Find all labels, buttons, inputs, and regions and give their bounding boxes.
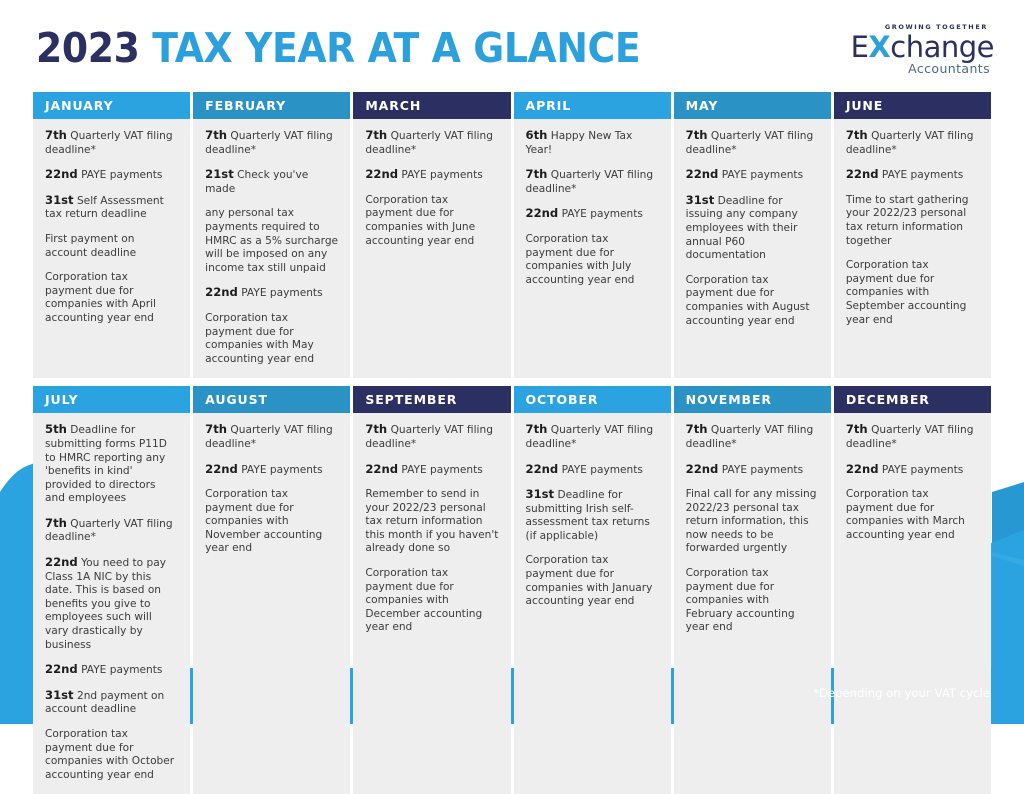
entry-text: PAYE payments [722,169,803,181]
calendar-entry: 22nd PAYE payments [205,286,338,301]
entry-text: PAYE payments [81,169,162,181]
month-header-may: MAY [674,92,831,119]
month-cell-march: MARCH7th Quarterly VAT filing deadline*2… [353,92,510,378]
entry-text: PAYE payments [241,287,322,299]
entry-text: Time to start gathering your 2022/23 per… [846,194,969,247]
logo-name-pre: E [851,30,869,64]
calendar-entry: Corporation tax payment due for companie… [526,554,659,608]
calendar-row: JANUARY7th Quarterly VAT filing deadline… [33,92,991,378]
month-cell-july: JULY5th Deadline for submitting forms P1… [33,386,190,794]
month-entries: 5th Deadline for submitting forms P11D t… [33,413,190,794]
calendar-entry: 31st Self Assessment tax return deadline [45,194,178,222]
calendar-entry: Corporation tax payment due for companie… [365,194,498,248]
entry-day: 22nd [205,462,238,476]
calendar-entry: 31st 2nd payment on account deadline [45,689,178,717]
calendar-entry: 7th Quarterly VAT filing deadline* [846,129,979,157]
calendar-entry: 7th Quarterly VAT filing deadline* [365,423,498,451]
calendar-entry: 22nd PAYE payments [846,463,979,478]
calendar-entry: 7th Quarterly VAT filing deadline* [205,423,338,451]
calendar-entry: Time to start gathering your 2022/23 per… [846,194,979,248]
entry-day: 22nd [205,285,238,299]
calendar-entry: Corporation tax payment due for companie… [846,488,979,542]
page-title: 2023 TAX YEAR AT A GLANCE [36,24,640,72]
month-header-january: JANUARY [33,92,190,119]
entry-text: PAYE payments [81,664,162,676]
entry-text: Corporation tax payment due for companie… [526,233,635,286]
entry-text: Corporation tax payment due for companie… [45,271,156,324]
entry-text: Corporation tax payment due for companie… [686,567,795,633]
entry-text: PAYE payments [722,464,803,476]
calendar-entry: 22nd PAYE payments [686,463,819,478]
entry-day: 22nd [45,555,78,569]
calendar-entry: any personal tax payments required to HM… [205,207,338,275]
calendar-entry: 7th Quarterly VAT filing deadline* [45,129,178,157]
entry-text: You need to pay Class 1A NIC by this dat… [45,557,166,651]
calendar-entry: 21st Check you've made [205,168,338,196]
calendar-entry: 7th Quarterly VAT filing deadline* [846,423,979,451]
entry-day: 22nd [686,167,719,181]
calendar-entry: Corporation tax payment due for companie… [526,233,659,287]
entry-text: Corporation tax payment due for companie… [846,488,965,541]
month-header-april: APRIL [514,92,671,119]
entry-text: any personal tax payments required to HM… [205,207,338,273]
calendar-entry: 31st Deadline for issuing any company em… [686,194,819,263]
month-header-december: DECEMBER [834,386,991,413]
entry-text: PAYE payments [882,169,963,181]
logo-x-mark: X [868,30,890,64]
logo-subtitle: Accountants [842,62,990,76]
entry-day: 22nd [526,462,559,476]
entry-day: 31st [45,688,74,702]
month-cell-december: DECEMBER7th Quarterly VAT filing deadlin… [834,386,991,794]
entry-day: 7th [205,422,227,436]
entry-day: 7th [45,128,67,142]
calendar-entry: Corporation tax payment due for companie… [205,488,338,556]
calendar-entry: Corporation tax payment due for companie… [365,567,498,635]
month-cell-april: APRIL6th Happy New Tax Year!7th Quarterl… [514,92,671,378]
calendar-entry: 22nd PAYE payments [846,168,979,183]
calendar-entry: Corporation tax payment due for companie… [686,274,819,328]
month-header-september: SEPTEMBER [353,386,510,413]
entry-day: 7th [205,128,227,142]
entry-text: Corporation tax payment due for companie… [365,567,482,633]
month-entries: 7th Quarterly VAT filing deadline*22nd P… [674,413,831,794]
entry-text: First payment on account deadline [45,233,136,259]
entry-day: 22nd [45,662,78,676]
month-entries: 7th Quarterly VAT filing deadline*22nd P… [193,413,350,794]
entry-text: Corporation tax payment due for companie… [45,728,174,781]
month-entries: 7th Quarterly VAT filing deadline*21st C… [193,119,350,378]
calendar-row: JULY5th Deadline for submitting forms P1… [33,386,991,794]
logo-name-post: change [890,30,994,64]
month-header-october: OCTOBER [514,386,671,413]
calendar-entry: 7th Quarterly VAT filing deadline* [45,517,178,545]
calendar-entry: 22nd PAYE payments [365,168,498,183]
entry-day: 22nd [365,462,398,476]
company-logo: GROWING TOGETHER EXchange Accountants [842,23,994,75]
calendar-entry: First payment on account deadline [45,233,178,260]
title-rest: TAX YEAR AT A GLANCE [152,24,640,72]
entry-day: 22nd [526,206,559,220]
calendar-entry: Remember to send in your 2022/23 persona… [365,488,498,556]
entry-day: 7th [846,128,868,142]
calendar-entry: Final call for any missing 2022/23 perso… [686,488,819,556]
entry-day: 6th [526,128,548,142]
month-cell-february: FEBRUARY7th Quarterly VAT filing deadlin… [193,92,350,378]
entry-day: 31st [45,193,74,207]
entry-day: 22nd [45,167,78,181]
calendar-entry: 31st Deadline for submitting Irish self-… [526,488,659,543]
entry-text: PAYE payments [562,464,643,476]
entry-text: Corporation tax payment due for companie… [365,194,475,247]
right-wave-upper [992,482,1024,560]
entry-day: 31st [686,193,715,207]
calendar-entry: 22nd PAYE payments [365,463,498,478]
month-cell-november: NOVEMBER7th Quarterly VAT filing deadlin… [674,386,831,794]
entry-day: 22nd [846,167,879,181]
month-header-june: JUNE [834,92,991,119]
right-wave-lower [992,556,1024,668]
entry-text: Corporation tax payment due for companie… [205,312,314,365]
month-cell-june: JUNE7th Quarterly VAT filing deadline*22… [834,92,991,378]
month-cell-august: AUGUST7th Quarterly VAT filing deadline*… [193,386,350,794]
month-entries: 7th Quarterly VAT filing deadline*22nd P… [514,413,671,794]
calendar-entry: Corporation tax payment due for companie… [846,259,979,327]
entry-day: 7th [686,128,708,142]
entry-text: PAYE payments [401,169,482,181]
entry-text: PAYE payments [562,208,643,220]
calendar-entry: 7th Quarterly VAT filing deadline* [365,129,498,157]
entry-day: 31st [526,487,555,501]
calendar-entry: 22nd PAYE payments [45,663,178,678]
month-entries: 7th Quarterly VAT filing deadline*22nd P… [834,119,991,378]
title-year: 2023 [36,24,140,72]
vat-cycle-footnote: *Depending on your VAT cycle [813,686,990,700]
entry-text: Corporation tax payment due for companie… [846,259,967,325]
entry-day: 7th [686,422,708,436]
calendar-entry: 22nd PAYE payments [686,168,819,183]
calendar-entry: 22nd PAYE payments [45,168,178,183]
entry-day: 5th [45,422,67,436]
month-entries: 7th Quarterly VAT filing deadline*22nd P… [834,413,991,794]
calendar-entry: 7th Quarterly VAT filing deadline* [686,423,819,451]
month-cell-january: JANUARY7th Quarterly VAT filing deadline… [33,92,190,378]
entry-day: 7th [45,516,67,530]
month-header-february: FEBRUARY [193,92,350,119]
entry-day: 7th [526,422,548,436]
month-cell-may: MAY7th Quarterly VAT filing deadline*22n… [674,92,831,378]
month-entries: 7th Quarterly VAT filing deadline*22nd P… [674,119,831,378]
entry-day: 7th [526,167,548,181]
entry-day: 21st [205,167,234,181]
calendar-entry: 7th Quarterly VAT filing deadline* [526,423,659,451]
entry-text: PAYE payments [241,464,322,476]
month-entries: 7th Quarterly VAT filing deadline*22nd P… [353,413,510,794]
entry-text: Corporation tax payment due for companie… [526,554,653,607]
entry-text: Remember to send in your 2022/23 persona… [365,488,498,554]
calendar-entry: Corporation tax payment due for companie… [205,312,338,366]
calendar-entry: Corporation tax payment due for companie… [45,728,178,782]
entry-day: 22nd [686,462,719,476]
calendar-entry: Corporation tax payment due for companie… [45,271,178,325]
calendar-entry: 5th Deadline for submitting forms P11D t… [45,423,178,506]
entry-day: 7th [365,422,387,436]
month-entries: 7th Quarterly VAT filing deadline*22nd P… [33,119,190,378]
month-entries: 6th Happy New Tax Year!7th Quarterly VAT… [514,119,671,378]
entry-text: PAYE payments [882,464,963,476]
entry-text: PAYE payments [401,464,482,476]
page-header: 2023 TAX YEAR AT A GLANCE GROWING TOGETH… [0,0,1024,92]
entry-day: 22nd [846,462,879,476]
calendar-entry: Corporation tax payment due for companie… [686,567,819,635]
entry-day: 7th [846,422,868,436]
month-entries: 7th Quarterly VAT filing deadline*22nd P… [353,119,510,378]
calendar-entry: 7th Quarterly VAT filing deadline* [686,129,819,157]
entry-text: Corporation tax payment due for companie… [205,488,322,554]
calendar-entry: 22nd PAYE payments [526,463,659,478]
entry-text: Final call for any missing 2022/23 perso… [686,488,817,554]
calendar-entry: 6th Happy New Tax Year! [526,129,659,157]
month-cell-september: SEPTEMBER7th Quarterly VAT filing deadli… [353,386,510,794]
calendar-entry: 22nd PAYE payments [526,207,659,222]
month-header-march: MARCH [353,92,510,119]
calendar-entry: 22nd You need to pay Class 1A NIC by thi… [45,556,178,652]
month-cell-october: OCTOBER7th Quarterly VAT filing deadline… [514,386,671,794]
calendar-entry: 7th Quarterly VAT filing deadline* [526,168,659,196]
month-header-august: AUGUST [193,386,350,413]
entry-day: 22nd [365,167,398,181]
month-header-july: JULY [33,386,190,413]
entry-text: Corporation tax payment due for companie… [686,274,810,327]
calendar-entry: 22nd PAYE payments [205,463,338,478]
month-header-november: NOVEMBER [674,386,831,413]
logo-wordmark: EXchange [842,32,994,62]
entry-day: 7th [365,128,387,142]
calendar-entry: 7th Quarterly VAT filing deadline* [205,129,338,157]
